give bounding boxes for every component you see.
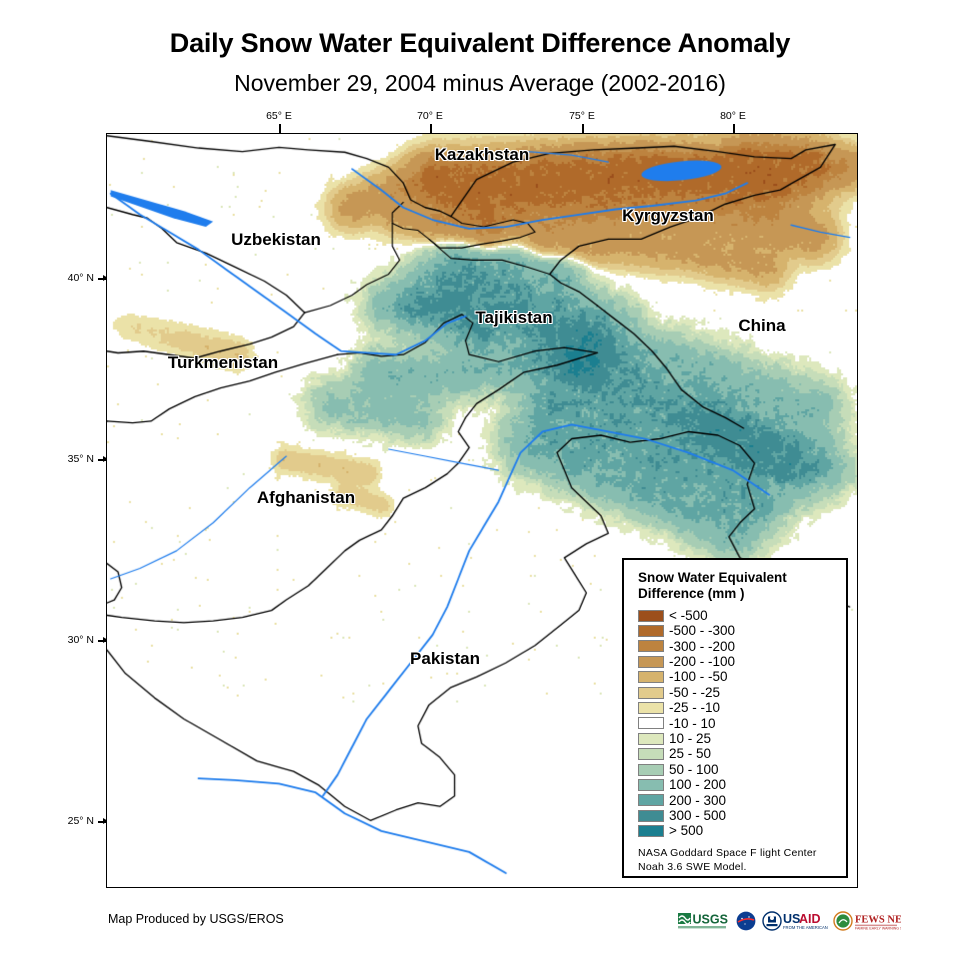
lat-tick-label-25: 25° N (68, 815, 94, 827)
legend-class-label: -200 - -100 (669, 655, 735, 669)
legend-row: 100 - 200 (638, 777, 846, 792)
legend-swatch-icon (638, 779, 664, 791)
legend-source-line2: Noah 3.6 SWE Model. (638, 860, 846, 874)
page-subtitle: November 29, 2004 minus Average (2002-20… (0, 70, 960, 97)
legend-swatch-icon (638, 764, 664, 776)
legend-row: -200 - -100 (638, 654, 846, 669)
legend-swatch-icon (638, 702, 664, 714)
legend-row: 10 - 25 (638, 731, 846, 746)
legend-class-label: < -500 (669, 609, 708, 623)
legend-swatch-icon (638, 794, 664, 806)
legend-class-label: 100 - 200 (669, 778, 726, 792)
legend-row: -10 - 10 (638, 716, 846, 731)
legend-row: 300 - 500 (638, 808, 846, 823)
legend-row: < -500 (638, 608, 846, 623)
legend-class-label: -500 - -300 (669, 624, 735, 638)
lon-tick-label-75: 75° E (569, 110, 595, 122)
legend-row: -25 - -10 (638, 700, 846, 715)
legend-class-label: -50 - -25 (669, 686, 720, 700)
lon-tick-mark-75 (582, 124, 584, 133)
legend-class-label: -100 - -50 (669, 670, 728, 684)
svg-text:FEWS NET: FEWS NET (855, 915, 901, 926)
svg-text:USGS: USGS (693, 913, 728, 927)
usgs-logo: USGS (678, 910, 730, 932)
legend-swatch-icon (638, 717, 664, 729)
page-title: Daily Snow Water Equivalent Difference A… (0, 28, 960, 59)
legend-class-label: -300 - -200 (669, 640, 735, 654)
legend-row: 50 - 100 (638, 762, 846, 777)
lon-tick-mark-80 (733, 124, 735, 133)
legend-swatch-icon (638, 687, 664, 699)
legend-row: -50 - -25 (638, 685, 846, 700)
legend-row: > 500 (638, 823, 846, 838)
legend-row: -500 - -300 (638, 623, 846, 638)
legend-swatch-icon (638, 640, 664, 652)
legend-class-label: > 500 (669, 824, 703, 838)
legend-class-label: 10 - 25 (669, 732, 711, 746)
legend-title-line2: Difference (mm ) (638, 586, 846, 602)
legend-row: 25 - 50 (638, 746, 846, 761)
lon-tick-label-80: 80° E (720, 110, 746, 122)
svg-text:AID: AID (799, 912, 821, 926)
legend-swatch-icon (638, 625, 664, 637)
legend-class-label: -10 - 10 (669, 717, 716, 731)
lat-tick-label-40: 40° N (68, 272, 94, 284)
lon-tick-label-65: 65° E (266, 110, 292, 122)
legend-swatch-icon (638, 825, 664, 837)
legend-class-label: 25 - 50 (669, 747, 711, 761)
lat-tick-label-30: 30° N (68, 634, 94, 646)
legend-swatch-icon (638, 656, 664, 668)
lon-tick-mark-65 (279, 124, 281, 133)
lon-tick-mark-70 (430, 124, 432, 133)
legend-class-label: 300 - 500 (669, 809, 726, 823)
legend-swatch-icon (638, 748, 664, 760)
svg-text:FROM THE AMERICAN PEOPLE: FROM THE AMERICAN PEOPLE (783, 925, 828, 930)
legend-swatch-icon (638, 671, 664, 683)
svg-text:FAMINE EARLY WARNING SYSTEMS N: FAMINE EARLY WARNING SYSTEMS NETWORK (855, 927, 901, 931)
legend-row: -100 - -50 (638, 670, 846, 685)
legend-title: Snow Water Equivalent Difference (mm ) (638, 570, 846, 603)
legend-panel: Snow Water Equivalent Difference (mm ) <… (622, 558, 848, 878)
legend-class-label: -25 - -10 (669, 701, 720, 715)
agency-logo-strip: USGSUSAIDFROM THE AMERICAN PEOPLEFEWS NE… (678, 906, 901, 936)
map-credit: Map Produced by USGS/EROS (108, 912, 284, 926)
legend-row: -300 - -200 (638, 639, 846, 654)
legend-row: 200 - 300 (638, 793, 846, 808)
legend-swatch-icon (638, 610, 664, 622)
legend-swatch-icon (638, 810, 664, 822)
legend-swatch-icon (638, 733, 664, 745)
nasa-logo (735, 910, 757, 932)
fewsnet-logo: FEWS NETFAMINE EARLY WARNING SYSTEMS NET… (833, 910, 901, 932)
usaid-logo: USAIDFROM THE AMERICAN PEOPLE (762, 910, 828, 932)
lon-tick-label-70: 70° E (417, 110, 443, 122)
legend-source-line1: NASA Goddard Space F light Center (638, 846, 846, 860)
lat-tick-label-35: 35° N (68, 453, 94, 465)
legend-title-line1: Snow Water Equivalent (638, 570, 846, 586)
legend-class-list: < -500-500 - -300-300 - -200-200 - -100-… (638, 608, 846, 839)
svg-text:US: US (783, 912, 800, 926)
legend-class-label: 50 - 100 (669, 763, 719, 777)
legend-source-note: NASA Goddard Space F light Center Noah 3… (638, 846, 846, 875)
legend-class-label: 200 - 300 (669, 794, 726, 808)
